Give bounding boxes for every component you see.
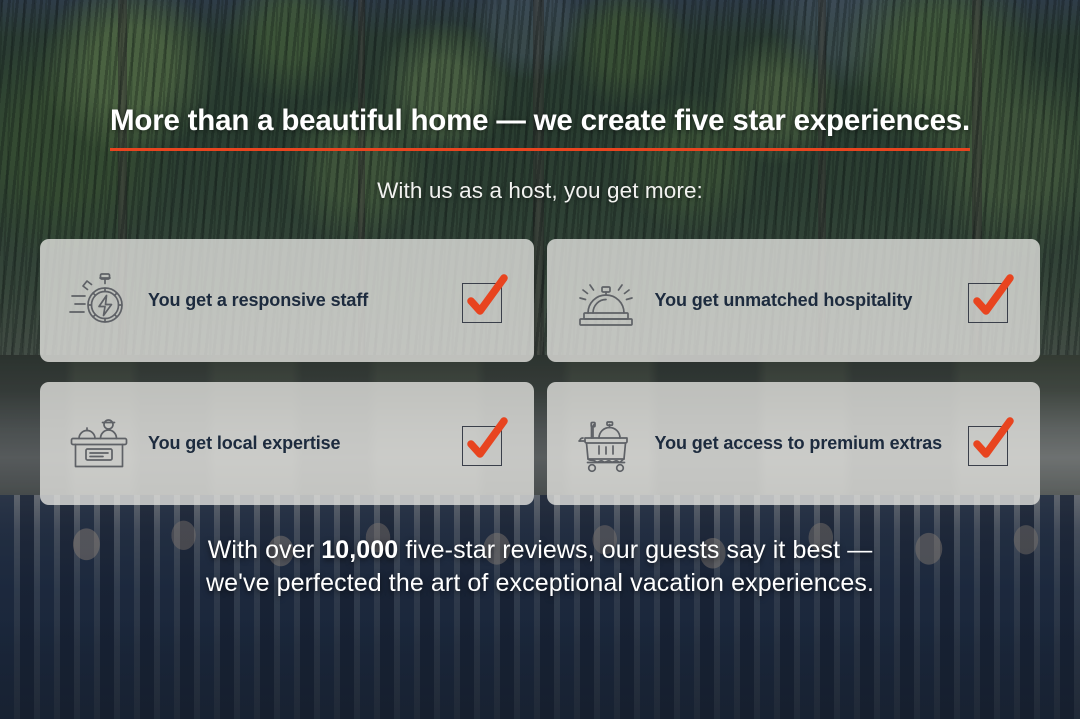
headline-container: More than a beautiful home — we create f… [0, 104, 1080, 151]
benefit-label: You get local expertise [148, 433, 460, 454]
footer-line-1: With over 10,000 five-star reviews, our … [0, 534, 1080, 567]
benefit-card-local-expertise[interactable]: You get local expertise [40, 382, 534, 505]
checkbox-checked[interactable] [460, 420, 508, 468]
hero-content: More than a beautiful home — we create f… [0, 0, 1080, 719]
benefits-grid: You get a responsive staff [40, 239, 1040, 505]
concierge-desk-icon [66, 411, 132, 477]
room-service-cart-icon [573, 411, 639, 477]
footer-statement: With over 10,000 five-star reviews, our … [0, 534, 1080, 601]
benefit-label: You get access to premium extras [655, 433, 967, 454]
check-icon [459, 274, 511, 326]
footer-line-2: we've perfected the art of exceptional v… [0, 567, 1080, 600]
footer-line-1-prefix: With over [208, 536, 322, 564]
check-icon [459, 417, 511, 469]
benefit-label: You get a responsive staff [148, 290, 460, 311]
check-icon [965, 274, 1017, 326]
benefit-card-responsive-staff[interactable]: You get a responsive staff [40, 239, 534, 362]
review-count: 10,000 [321, 536, 398, 564]
benefit-label: You get unmatched hospitality [655, 290, 967, 311]
check-icon [965, 417, 1017, 469]
benefit-card-premium-extras[interactable]: You get access to premium extras [547, 382, 1041, 505]
subheadline: With us as a host, you get more: [0, 178, 1080, 204]
footer-line-1-suffix: five-star reviews, our guests say it bes… [398, 536, 872, 564]
benefit-card-unmatched-hospitality[interactable]: You get unmatched hospitality [547, 239, 1041, 362]
checkbox-checked[interactable] [460, 277, 508, 325]
service-bell-icon [573, 268, 639, 334]
page-title: More than a beautiful home — we create f… [110, 104, 970, 151]
checkbox-checked[interactable] [966, 420, 1014, 468]
checkbox-checked[interactable] [966, 277, 1014, 325]
stopwatch-lightning-icon [66, 268, 132, 334]
